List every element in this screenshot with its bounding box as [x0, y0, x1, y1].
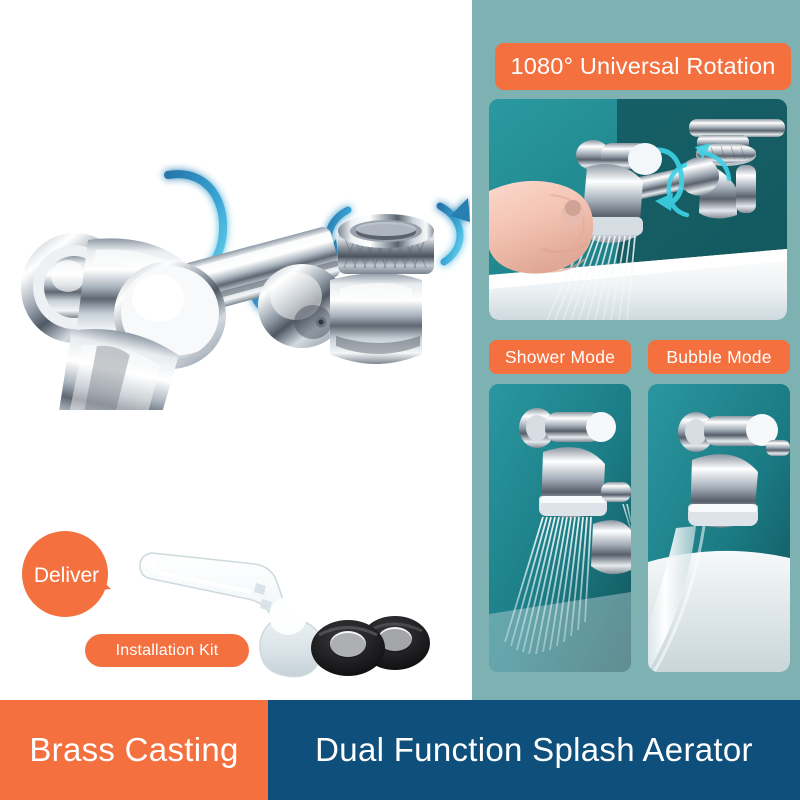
hero-product-image — [0, 110, 470, 410]
hand-holding-aerator-photo — [489, 99, 787, 320]
installation-kit-label: Installation Kit — [85, 634, 249, 667]
deliver-badge — [22, 531, 111, 620]
bottom-banner: Brass Casting Dual Function Splash Aerat… — [0, 700, 800, 800]
bubble-mode-label: Bubble Mode — [648, 340, 790, 374]
bubble-mode-photo — [648, 384, 790, 672]
product-marketing-image: Deliver Installation Kit 1080° Universal… — [0, 0, 800, 800]
banner-brass-casting: Brass Casting — [0, 700, 268, 800]
rubber-washer-front — [311, 620, 385, 676]
banner-product-title: Dual Function Splash Aerator — [268, 700, 800, 800]
shower-mode-label: Shower Mode — [489, 340, 631, 374]
universal-rotation-label: 1080° Universal Rotation — [495, 43, 791, 90]
shower-mode-photo — [489, 384, 631, 672]
